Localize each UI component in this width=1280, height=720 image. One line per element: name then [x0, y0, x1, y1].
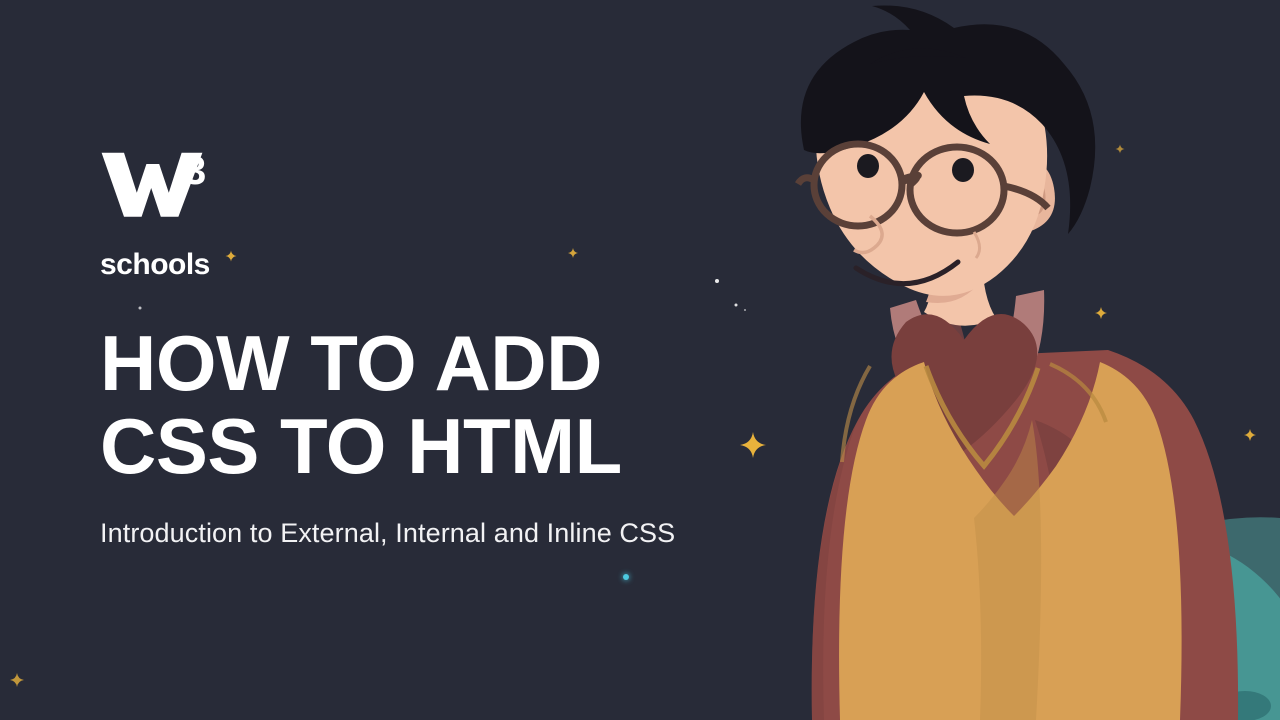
- person-body: [812, 236, 1238, 720]
- page-title: HOW TO ADD CSS TO HTML: [100, 322, 740, 487]
- svg-text:3: 3: [184, 150, 206, 193]
- page-title-line-1: HOW TO ADD: [100, 322, 740, 405]
- sparkle-star: [10, 673, 24, 687]
- page-subtitle: Introduction to External, Internal and I…: [100, 517, 740, 549]
- eye-right: [952, 158, 974, 182]
- cyan-dot-star: [623, 574, 629, 580]
- eye-left: [857, 154, 879, 178]
- w3-logo-mark: 3: [100, 150, 230, 236]
- illustration-cartoon-person: [720, 0, 1280, 720]
- person-head: [798, 5, 1095, 295]
- title-text-block: 3 schools HOW TO ADD CSS TO HTML Introdu…: [100, 150, 740, 550]
- title-card: 3 schools HOW TO ADD CSS TO HTML Introdu…: [0, 0, 1280, 720]
- page-title-line-2: CSS TO HTML: [100, 405, 740, 488]
- w3schools-logo: 3 schools: [100, 150, 740, 280]
- logo-wordmark: schools: [100, 250, 740, 280]
